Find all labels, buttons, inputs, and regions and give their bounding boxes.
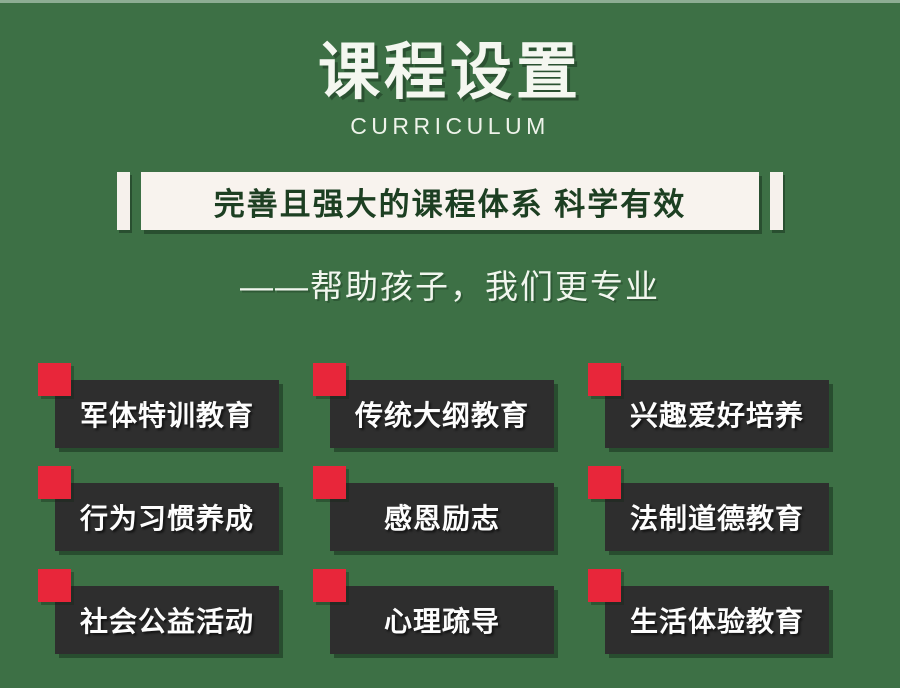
course-card-cell: 军体特训教育 (38, 363, 296, 466)
red-square-icon (588, 569, 621, 602)
course-card[interactable]: 传统大纲教育 (330, 380, 554, 448)
banner: 完善且强大的课程体系 科学有效 (0, 170, 900, 232)
course-card-cell: 兴趣爱好培养 (588, 363, 846, 466)
course-card-label: 军体特训教育 (80, 394, 254, 434)
page-subtitle: CURRICULUM (0, 112, 900, 140)
course-card[interactable]: 军体特训教育 (55, 380, 279, 448)
red-square-icon (588, 363, 621, 396)
curriculum-poster: 课程设置 CURRICULUM 完善且强大的课程体系 科学有效 ——帮助孩子，我… (0, 0, 900, 688)
red-square-icon (38, 363, 71, 396)
course-card[interactable]: 心理疏导 (330, 586, 554, 654)
course-card-cell: 传统大纲教育 (313, 363, 571, 466)
course-card[interactable]: 法制道德教育 (605, 483, 829, 551)
red-square-icon (38, 466, 71, 499)
course-card[interactable]: 兴趣爱好培养 (605, 380, 829, 448)
course-card-label: 感恩励志 (384, 497, 500, 537)
course-card[interactable]: 行为习惯养成 (55, 483, 279, 551)
course-card-label: 行为习惯养成 (80, 497, 254, 537)
red-square-icon (313, 466, 346, 499)
page-title: 课程设置 (0, 38, 900, 108)
course-card-cell: 社会公益活动 (38, 569, 296, 672)
course-card-cell: 行为习惯养成 (38, 466, 296, 569)
course-card-cell: 感恩励志 (313, 466, 571, 569)
course-card-label: 法制道德教育 (630, 497, 804, 537)
course-card-grid: 军体特训教育 传统大纲教育 兴趣爱好培养 行为习惯养成 感恩励志 (38, 363, 862, 672)
red-square-icon (313, 569, 346, 602)
course-card-label: 社会公益活动 (80, 600, 254, 640)
banner-tick-left (117, 172, 130, 230)
course-card-cell: 心理疏导 (313, 569, 571, 672)
course-card[interactable]: 社会公益活动 (55, 586, 279, 654)
course-card-label: 传统大纲教育 (355, 394, 529, 434)
course-card[interactable]: 感恩励志 (330, 483, 554, 551)
course-card[interactable]: 生活体验教育 (605, 586, 829, 654)
red-square-icon (38, 569, 71, 602)
red-square-icon (588, 466, 621, 499)
banner-text: 完善且强大的课程体系 科学有效 (214, 179, 687, 224)
course-card-label: 生活体验教育 (630, 600, 804, 640)
poster-header: 课程设置 CURRICULUM (0, 38, 900, 140)
course-card-label: 心理疏导 (384, 600, 500, 640)
course-card-cell: 生活体验教育 (588, 569, 846, 672)
red-square-icon (313, 363, 346, 396)
top-edge-strip (0, 0, 900, 3)
tagline: ——帮助孩子，我们更专业 (0, 264, 900, 310)
course-card-cell: 法制道德教育 (588, 466, 846, 569)
banner-box: 完善且强大的课程体系 科学有效 (141, 172, 759, 230)
banner-tick-right (770, 172, 783, 230)
course-card-label: 兴趣爱好培养 (630, 394, 804, 434)
